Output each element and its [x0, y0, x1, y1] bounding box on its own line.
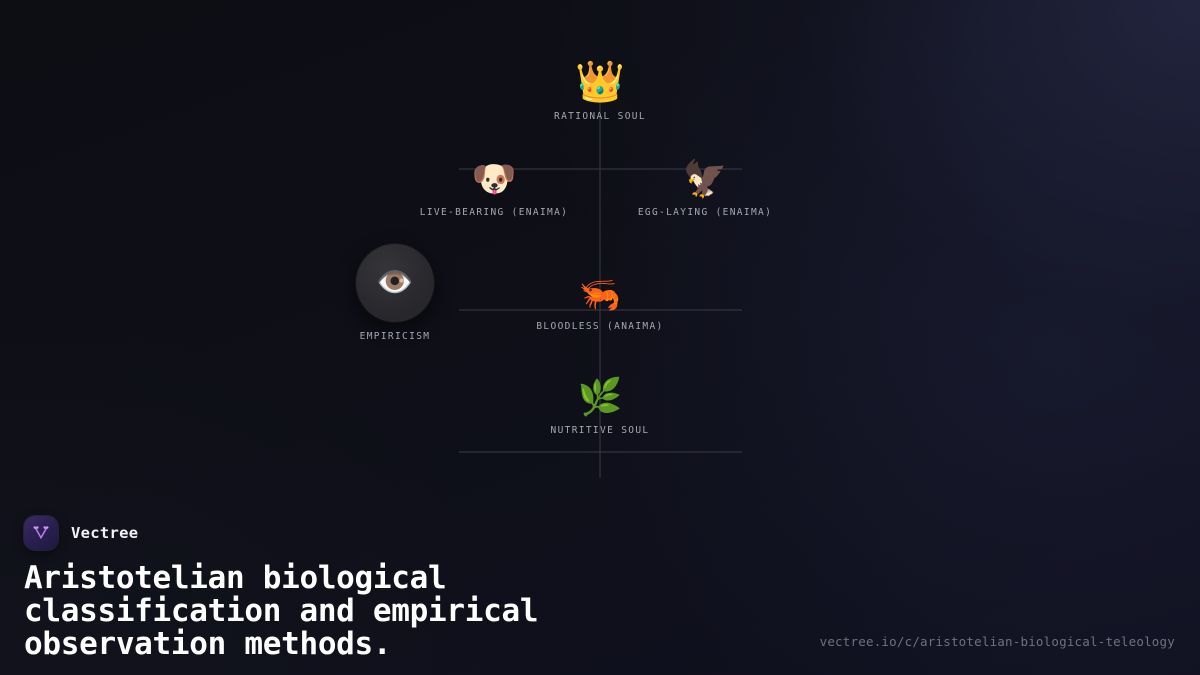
- graph-node-egg-laying[interactable]: 🦅EGG-LAYING (ENAIMA): [638, 162, 772, 218]
- eagle-emoji: 🦅: [683, 162, 728, 198]
- brand-name: Vectree: [71, 524, 138, 542]
- footer-bar: Vectree Aristotelian biological classifi…: [0, 490, 1200, 675]
- node-label: EMPIRICISM: [360, 331, 431, 342]
- node-label: LIVE-BEARING (ENAIMA): [420, 207, 568, 218]
- page-title: Aristotelian biological classification a…: [24, 562, 744, 661]
- crown-emoji: 👑: [575, 62, 625, 102]
- source-url: vectree.io/c/aristotelian-biological-tel…: [820, 634, 1175, 649]
- brand-row[interactable]: Vectree: [24, 516, 138, 550]
- node-label: BLOODLESS (ANAIMA): [536, 321, 663, 332]
- dog-emoji: 🐶: [472, 162, 517, 198]
- shrimp-emoji: 🦐: [579, 278, 621, 312]
- vectree-logo-icon: [24, 516, 58, 550]
- node-label: EGG-LAYING (ENAIMA): [638, 207, 772, 218]
- graph-node-nutritive-soul[interactable]: 🌿NUTRITIVE SOUL: [551, 380, 650, 436]
- eye-emoji: 👁️: [376, 268, 413, 298]
- node-label: RATIONAL SOUL: [554, 111, 646, 122]
- slide-canvas: 👑RATIONAL SOUL🐶LIVE-BEARING (ENAIMA)🦅EGG…: [0, 0, 1200, 675]
- graph-node-rational-soul[interactable]: 👑RATIONAL SOUL: [554, 62, 646, 122]
- graph-node-live-bearing[interactable]: 🐶LIVE-BEARING (ENAIMA): [420, 162, 568, 218]
- node-label: NUTRITIVE SOUL: [551, 425, 650, 436]
- graph-node-bloodless[interactable]: 🦐BLOODLESS (ANAIMA): [536, 278, 663, 332]
- herb-emoji: 🌿: [578, 380, 623, 416]
- graph-node-empiricism[interactable]: 👁️EMPIRICISM: [356, 244, 434, 342]
- node-badge-empiricism: 👁️: [356, 244, 434, 322]
- concept-graph[interactable]: 👑RATIONAL SOUL🐶LIVE-BEARING (ENAIMA)🦅EGG…: [0, 0, 1200, 490]
